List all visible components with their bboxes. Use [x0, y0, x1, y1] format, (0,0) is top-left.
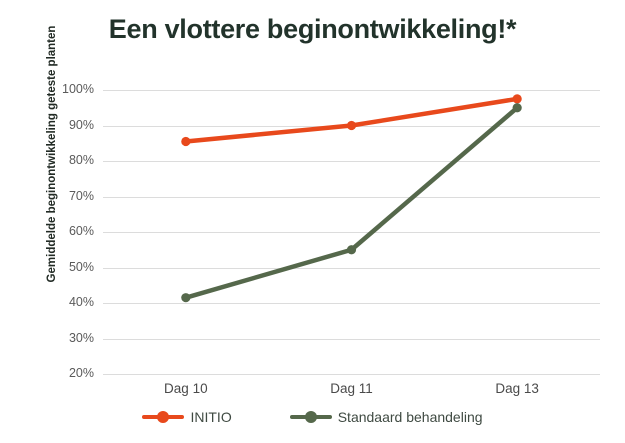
y-axis-tick-label: 30% — [46, 331, 94, 345]
legend-item[interactable]: INITIO — [142, 409, 231, 425]
legend-label: INITIO — [190, 409, 231, 425]
y-axis-tick-label: 40% — [46, 295, 94, 309]
line-chart: Een vlottere beginontwikkeling!* Gemidde… — [0, 0, 625, 443]
x-axis-tick-label: Dag 13 — [457, 381, 577, 396]
x-axis-tick-label: Dag 10 — [126, 381, 246, 396]
y-axis-tick-label: 100% — [46, 82, 94, 96]
y-axis-tick-label: 90% — [46, 118, 94, 132]
legend-label: Standaard behandeling — [338, 409, 483, 425]
chart-legend: INITIOStandaard behandeling — [0, 409, 625, 425]
y-axis-tick-label: 60% — [46, 224, 94, 238]
data-point — [181, 137, 190, 146]
legend-dot — [157, 411, 169, 423]
x-axis-tick-labels: Dag 10Dag 11Dag 13 — [103, 381, 600, 401]
y-axis-tick-label: 80% — [46, 153, 94, 167]
data-point — [513, 103, 522, 112]
data-point — [347, 121, 356, 130]
y-axis-tick-label: 50% — [46, 260, 94, 274]
legend-marker-icon — [290, 411, 332, 423]
chart-title: Een vlottere beginontwikkeling!* — [0, 14, 625, 45]
plot-area — [103, 90, 600, 374]
data-point — [347, 245, 356, 254]
x-axis-tick-label: Dag 11 — [292, 381, 412, 396]
series-lines — [103, 90, 600, 374]
gridline — [103, 374, 600, 375]
legend-marker-icon — [142, 411, 184, 423]
series-line — [186, 99, 517, 142]
legend-item[interactable]: Standaard behandeling — [290, 409, 483, 425]
data-point — [181, 293, 190, 302]
y-axis-tick-label: 70% — [46, 189, 94, 203]
legend-dot — [305, 411, 317, 423]
y-axis-tick-label: 20% — [46, 366, 94, 380]
data-point — [513, 94, 522, 103]
